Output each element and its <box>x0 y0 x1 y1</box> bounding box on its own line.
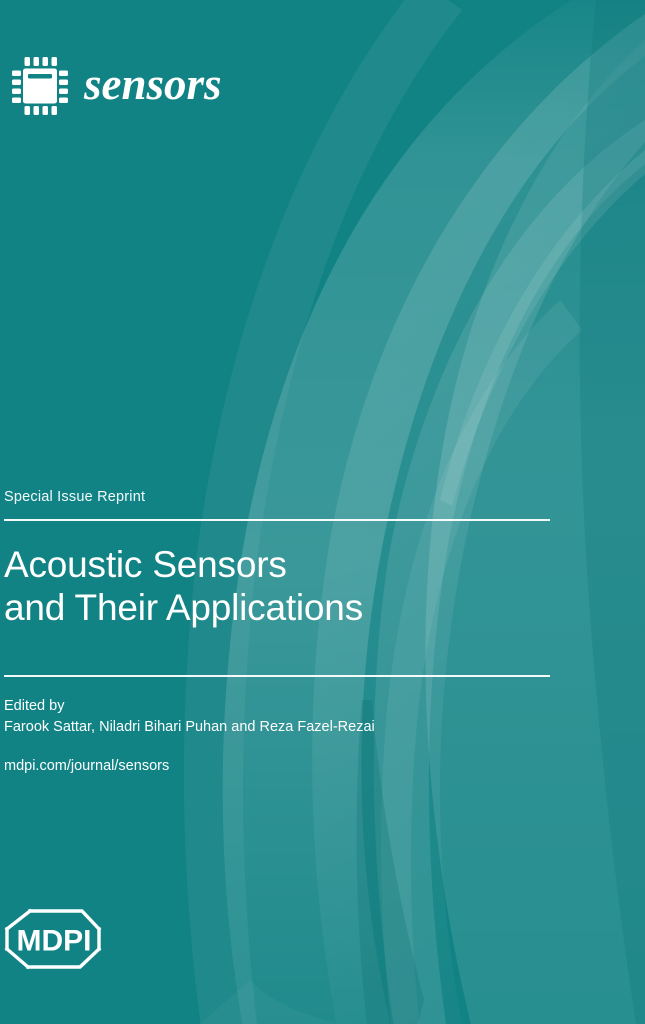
editors-block: Edited by Farook Sattar, Niladri Bihari … <box>4 696 564 737</box>
credits-block: Edited by Farook Sattar, Niladri Bihari … <box>4 675 564 775</box>
special-issue-kicker: Special Issue Reprint <box>4 489 564 505</box>
page-title-line-2: and Their Applications <box>4 586 564 629</box>
mdpi-logo-text: MDPI <box>17 925 92 958</box>
journal-masthead: sensors <box>12 57 222 115</box>
journal-wordmark: sensors <box>84 62 222 111</box>
editor-names: Farook Sattar, Niladri Bihari Puhan and … <box>4 717 564 738</box>
page-title-line-1: Acoustic Sensors <box>4 543 564 586</box>
title-block: Special Issue Reprint Acoustic Sensors a… <box>4 489 564 630</box>
title-divider-rule <box>4 519 550 521</box>
microchip-icon <box>12 57 68 115</box>
edited-by-label: Edited by <box>4 696 564 717</box>
mdpi-hexagon-logo: MDPI <box>4 903 104 975</box>
book-cover: sensors Special Issue Reprint Acoustic S… <box>0 0 645 1024</box>
credits-divider-rule <box>4 675 550 677</box>
journal-url-link[interactable]: mdpi.com/journal/sensors <box>4 758 169 774</box>
page-title: Acoustic Sensors and Their Applications <box>4 543 564 630</box>
